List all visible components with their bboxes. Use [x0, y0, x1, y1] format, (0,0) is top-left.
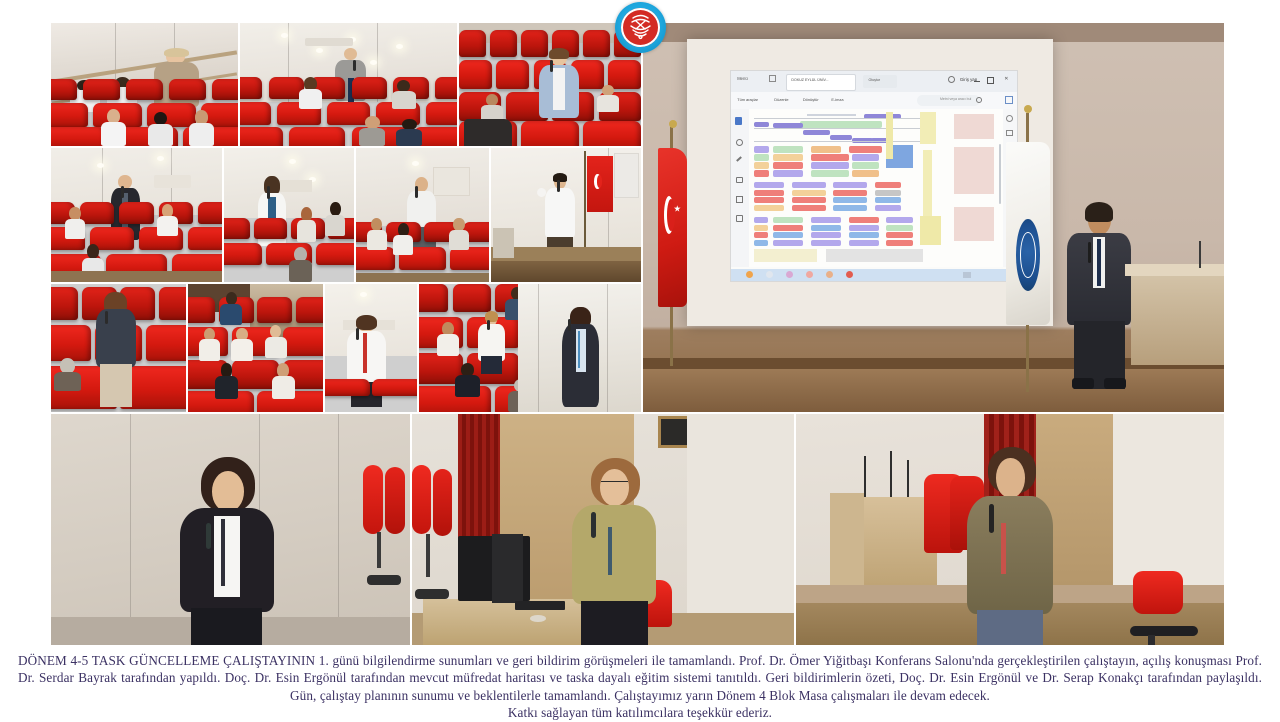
- page-thumbnail-icon[interactable]: [735, 117, 742, 125]
- menu-button[interactable]: Menü: [737, 76, 747, 81]
- close-icon[interactable]: ✕: [1004, 77, 1008, 82]
- photo-r4c3: [796, 414, 1224, 645]
- toolbar-item-0[interactable]: Tüm araçlar: [737, 97, 758, 102]
- toolbar-item-3[interactable]: E-imza: [831, 97, 843, 102]
- tool-rail: [731, 109, 748, 267]
- action-icon-1[interactable]: [746, 271, 753, 278]
- speaker-figure: [180, 460, 273, 645]
- serbest-calisma-block: [920, 216, 941, 244]
- search-placeholder: Metni veya aracı bul: [940, 97, 971, 101]
- photo-r3c3: [325, 284, 417, 412]
- photo-r4c2: [412, 414, 794, 645]
- fill-sign-icon[interactable]: [736, 196, 743, 203]
- foreground-red-chair: [1130, 571, 1198, 645]
- home-icon[interactable]: [769, 75, 776, 82]
- butunleme-column-3: [923, 150, 933, 216]
- side-table: [1131, 272, 1224, 365]
- photo-r2c2: [224, 148, 354, 282]
- photo-r3c1: [51, 284, 186, 412]
- turkish-flag: [658, 140, 687, 354]
- photo-main-stage: Menü DOKUZ EYLÜL ÜNİV... Oluştur Giriş y…: [643, 23, 1224, 412]
- photo-r3c5: [518, 284, 641, 412]
- curriculum-band-2: [754, 145, 942, 178]
- photo-collage: Menü DOKUZ EYLÜL ÜNİV... Oluştur Giriş y…: [51, 23, 1224, 645]
- caption-body: DÖNEM 4-5 TASK GÜNCELLEME ÇALIŞTAYININ 1…: [18, 653, 1262, 703]
- last-update-note: [934, 251, 985, 260]
- pen-tool-icon[interactable]: [736, 156, 742, 162]
- caption-block: DÖNEM 4-5 TASK GÜNCELLEME ÇALIŞTAYININ 1…: [18, 652, 1262, 722]
- logo-knot-icon: [615, 2, 666, 53]
- gooseneck-mic-3: [907, 460, 909, 497]
- more-tools-icon[interactable]: [736, 215, 743, 222]
- photo-r2c4: [491, 148, 641, 282]
- comment-tool-icon[interactable]: [736, 177, 743, 183]
- photo-r2c3: [356, 148, 489, 282]
- tab-create-label: Oluştur: [869, 78, 881, 82]
- action-icon-3[interactable]: [786, 271, 793, 278]
- rotate-icon[interactable]: [1006, 115, 1013, 122]
- note-strip-center: [826, 249, 923, 262]
- toolbar-item-2[interactable]: Dönüştür: [803, 97, 819, 102]
- search-icon[interactable]: [976, 97, 982, 103]
- action-icon-4[interactable]: [806, 271, 813, 278]
- toolbar-item-1[interactable]: Düzenle: [774, 97, 788, 102]
- pc-tower: [492, 534, 523, 603]
- mouse: [530, 615, 545, 622]
- speaker-figure: [572, 460, 656, 645]
- projected-application-window: Menü DOKUZ EYLÜL ÜNİV... Oluştur Giriş y…: [730, 70, 1017, 282]
- right-block-1: [954, 114, 994, 139]
- curriculum-band-3: [754, 182, 942, 214]
- lectern-base: [830, 493, 864, 585]
- butunleme-column-2: [927, 112, 936, 144]
- photo-r4c1: [51, 414, 410, 645]
- projection-screen: Menü DOKUZ EYLÜL ÜNİV... Oluştur Giriş y…: [687, 39, 1053, 327]
- curriculum-band-4: [754, 216, 942, 251]
- minimize-icon[interactable]: [974, 81, 980, 82]
- red-office-chair-left: [412, 465, 454, 599]
- final-column: [886, 112, 893, 159]
- photo-r1c2: [240, 23, 457, 146]
- university-flag-emblem: [1016, 219, 1040, 291]
- gooseneck-mic-2: [890, 451, 892, 497]
- collage-page: Menü DOKUZ EYLÜL ÜNİV... Oluştur Giriş y…: [0, 0, 1280, 720]
- eyeglasses-icon: [601, 481, 628, 489]
- app-title-bar: Menü DOKUZ EYLÜL ÜNİV... Oluştur Giriş y…: [731, 71, 1016, 93]
- photo-r1c1: [51, 23, 238, 146]
- side-table-top: [1125, 264, 1224, 276]
- maximize-icon[interactable]: [987, 77, 994, 84]
- action-icon-6[interactable]: [846, 271, 853, 278]
- right-block-3: [954, 207, 994, 242]
- curriculum-band-1: [754, 114, 942, 142]
- gooseneck-mic-1: [864, 456, 866, 498]
- photo-r2c1: [51, 148, 222, 282]
- app-toolbar: Tüm araçlar Düzenle Dönüştür E-imza Metn…: [731, 92, 1016, 110]
- vertical-scrollbar[interactable]: [999, 144, 1001, 204]
- right-block-2: [954, 147, 994, 194]
- document-canvas: [731, 109, 1016, 267]
- university-flag: [1006, 132, 1050, 373]
- note-strip-left: [754, 249, 817, 262]
- red-office-chair: [363, 465, 406, 585]
- action-icon-5[interactable]: [826, 271, 833, 278]
- stage-speaker: [1067, 206, 1131, 389]
- help-icon[interactable]: [948, 76, 955, 83]
- university-logo: [612, 2, 669, 54]
- podium-mic-icon: [1199, 241, 1201, 268]
- keyboard: [515, 601, 565, 610]
- zoom-tool-icon[interactable]: [736, 139, 743, 146]
- app-bottom-toolbar: [731, 269, 1016, 282]
- photo-r3c2: [188, 284, 323, 412]
- sidebar-toggle-icon[interactable]: [1005, 96, 1013, 104]
- caption-closing-line: Katkı sağlayan tüm katılımcılara teşekkü…: [18, 704, 1262, 721]
- speaker-figure: [967, 449, 1053, 645]
- page-indicator: [963, 272, 971, 278]
- action-icon-2[interactable]: [766, 271, 773, 278]
- tab-document-label: DOKUZ EYLÜL ÜNİV...: [791, 78, 828, 82]
- turkish-flag-small: [587, 156, 613, 212]
